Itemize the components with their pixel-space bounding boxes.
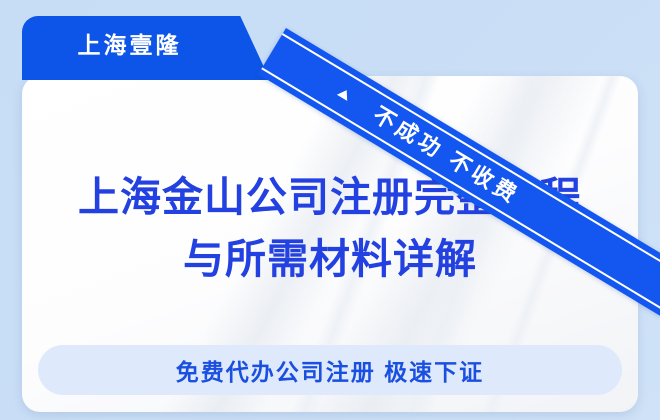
- promo-poster: 上海壹隆 上海金山公司注册完整流程 与所需材料详解 免费代办公司注册 极速下证 …: [0, 0, 660, 420]
- cta-banner[interactable]: 免费代办公司注册 极速下证: [38, 345, 622, 395]
- brand-tab-label: 上海壹隆: [22, 30, 237, 60]
- brand-tab[interactable]: 上海壹隆: [22, 16, 270, 80]
- triangle-up-icon: [337, 87, 352, 101]
- cta-banner-label: 免费代办公司注册 极速下证: [176, 353, 484, 387]
